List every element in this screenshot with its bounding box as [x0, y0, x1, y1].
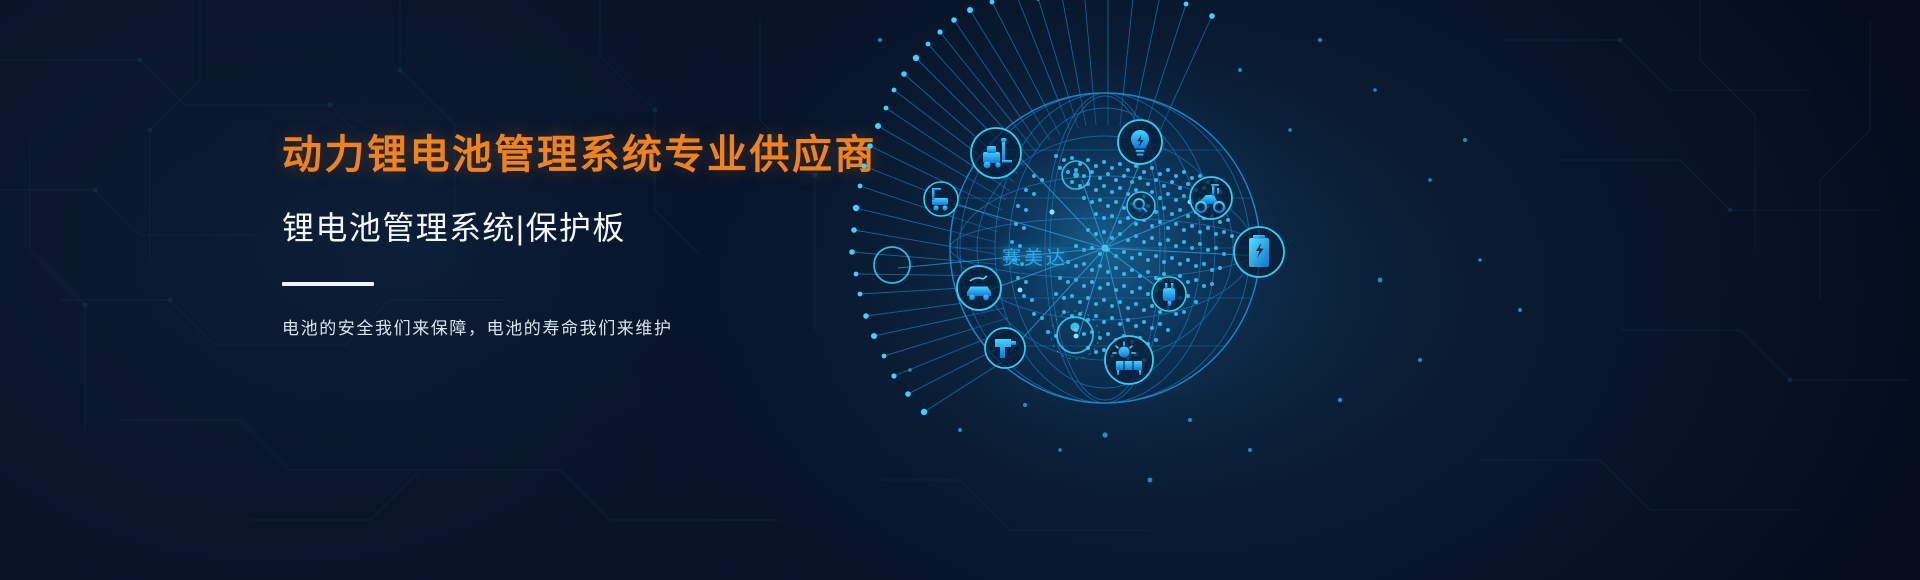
scooter-icon: [1190, 177, 1232, 219]
forklift-icon: [971, 128, 1021, 178]
lightbulb-icon: [1118, 120, 1162, 164]
network-globe-illustration: [820, 0, 1540, 580]
car-icon: [957, 266, 1001, 310]
magnifier-icon: [1127, 192, 1155, 220]
empty-node-icon: [874, 247, 910, 283]
power-drill-icon: [985, 328, 1025, 368]
handcart-icon: [924, 182, 958, 216]
battery-icon: [1234, 227, 1284, 277]
plug-icon: [1152, 277, 1186, 311]
title-divider: [282, 282, 374, 286]
hero-banner: 动力锂电池管理系统专业供应商 锂电池管理系统|保护板 电池的安全我们来保障，电池…: [0, 0, 1920, 580]
solar-panel-icon: [1105, 336, 1153, 384]
